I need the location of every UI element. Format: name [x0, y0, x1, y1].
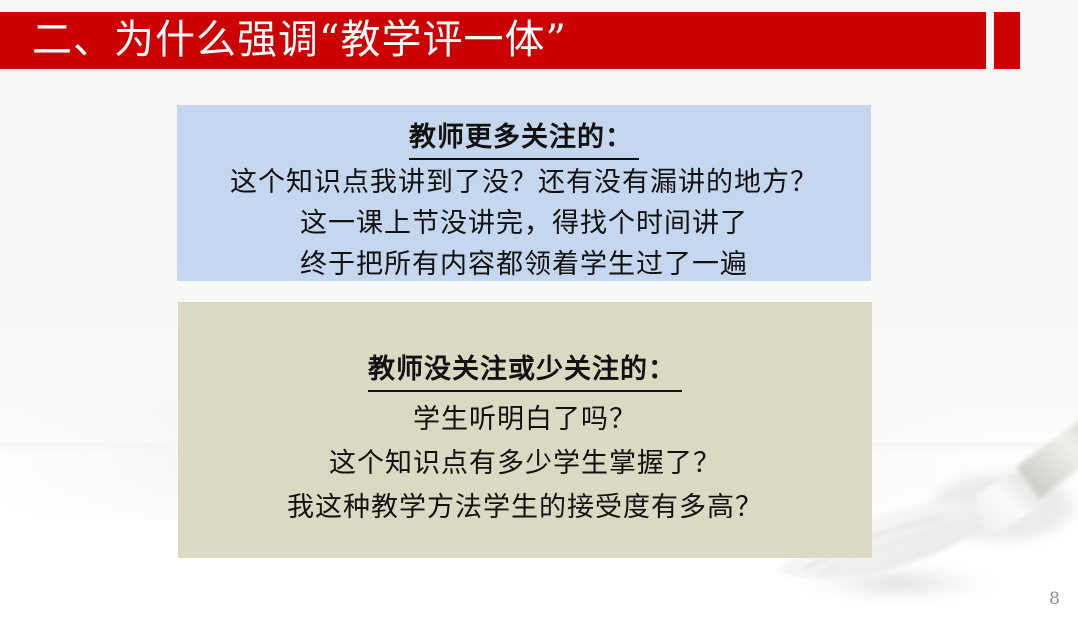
teacher-focus-heading: 教师更多关注的： [409, 119, 639, 160]
teacher-neglect-heading: 教师没关注或少关注的： [368, 351, 682, 392]
page-title: 二、为什么强调“教学评一体” [32, 12, 567, 69]
teacher-focus-line-3: 终于把所有内容都领着学生过了一遍 [177, 244, 871, 285]
title-bar-accent-block [994, 12, 1020, 69]
teacher-focus-box: 教师更多关注的： 这个知识点我讲到了没？还有没有漏讲的地方？ 这一课上节没讲完，… [177, 105, 871, 281]
slide-canvas: 二、为什么强调“教学评一体” 教师更多关注的： 这个知识点我讲到了没？还有没有漏… [0, 0, 1078, 617]
teacher-focus-line-1: 这个知识点我讲到了没？还有没有漏讲的地方？ [177, 162, 871, 203]
teacher-neglect-line-1: 学生听明白了吗？ [178, 398, 872, 442]
teacher-neglect-line-2: 这个知识点有多少学生掌握了？ [178, 442, 872, 486]
teacher-focus-line-2: 这一课上节没讲完，得找个时间讲了 [177, 203, 871, 244]
teacher-neglect-box: 教师没关注或少关注的： 学生听明白了吗？ 这个知识点有多少学生掌握了？ 我这种教… [178, 302, 872, 558]
teacher-neglect-line-3: 我这种教学方法学生的接受度有多高？ [178, 486, 872, 530]
page-number: 8 [1049, 589, 1060, 609]
